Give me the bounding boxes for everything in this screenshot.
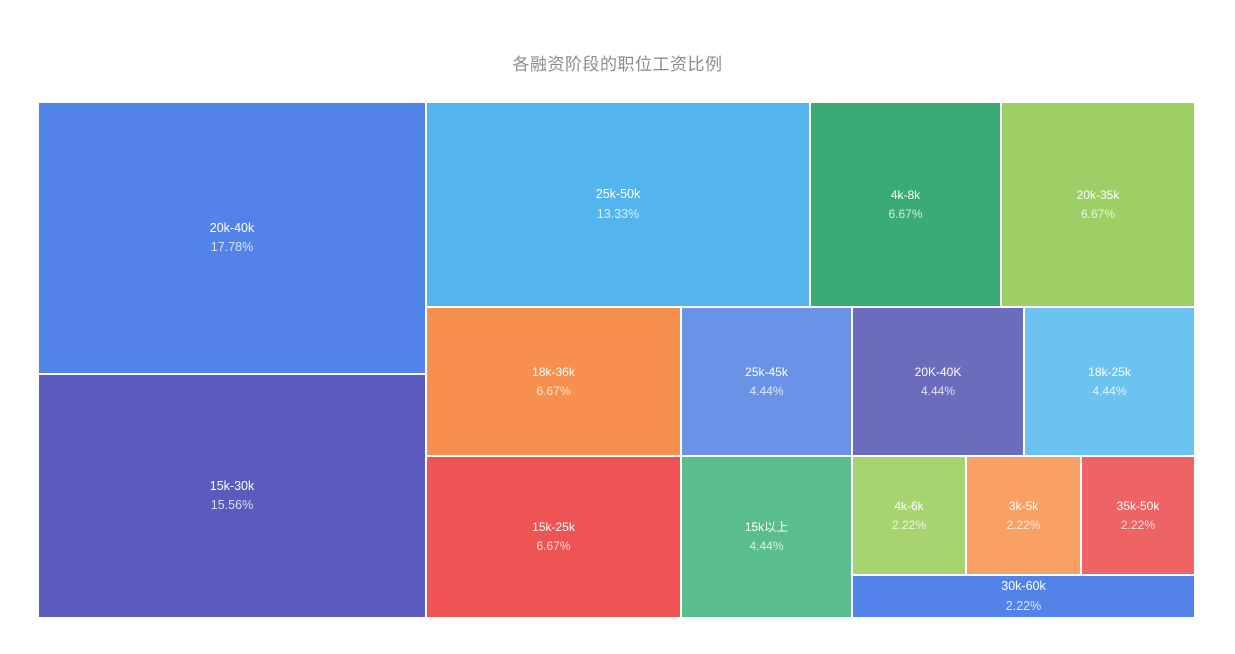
treemap-cell-label: 18k-36k [532,363,575,382]
treemap-cell-label: 3k-5k [1009,497,1038,516]
treemap-cell-value: 4.44% [921,382,955,401]
treemap-cell-value: 6.67% [1081,205,1115,224]
treemap-cell[interactable]: 18k-36k6.67% [426,307,681,456]
treemap-cell[interactable]: 15k-25k6.67% [426,456,681,618]
treemap-cell[interactable]: 35k-50k2.22% [1081,456,1195,575]
treemap-cell-value: 13.33% [597,205,639,224]
treemap-cell-value: 2.22% [1006,516,1040,535]
treemap-cell-value: 2.22% [892,516,926,535]
treemap-cell[interactable]: 25k-50k13.33% [426,102,810,307]
treemap-cell-value: 6.67% [536,382,570,401]
treemap-cell-value: 15.56% [211,496,253,515]
treemap-cell-value: 6.67% [888,205,922,224]
treemap-cell[interactable]: 18k-25k4.44% [1024,307,1195,456]
treemap-cell[interactable]: 4k-8k6.67% [810,102,1001,307]
treemap-cell-label: 15k-25k [532,518,575,537]
treemap-cell[interactable]: 20K-40K4.44% [852,307,1024,456]
treemap-cell[interactable]: 25k-45k4.44% [681,307,852,456]
treemap-cell-value: 2.22% [1006,597,1041,616]
treemap-cell-value: 4.44% [1092,382,1126,401]
treemap-cell-label: 25k-50k [596,185,640,204]
treemap-cell[interactable]: 4k-6k2.22% [852,456,966,575]
treemap-cell[interactable]: 30k-60k2.22% [852,575,1195,618]
treemap-cell[interactable]: 15k-30k15.56% [38,374,426,618]
treemap-cell-value: 4.44% [749,537,783,556]
treemap-cell[interactable]: 20k-35k6.67% [1001,102,1195,307]
treemap-cell-label: 30k-60k [1001,577,1045,596]
treemap-cell[interactable]: 15k以上4.44% [681,456,852,618]
treemap-cell-label: 20K-40K [915,363,962,382]
chart-title: 各融资阶段的职位工资比例 [0,50,1235,75]
treemap-cell-value: 4.44% [749,382,783,401]
treemap-cell-label: 15k以上 [745,518,788,537]
treemap-cell-label: 4k-8k [891,186,920,205]
treemap-cell-label: 25k-45k [745,363,788,382]
treemap-cell-value: 6.67% [536,537,570,556]
treemap-cell-label: 4k-6k [894,497,923,516]
treemap-cell-label: 20k-40k [210,219,254,238]
treemap-cell-value: 17.78% [211,238,253,257]
treemap-cell[interactable]: 20k-40k17.78% [38,102,426,374]
treemap-container: 20k-40k17.78%15k-30k15.56%25k-50k13.33%4… [38,102,1195,618]
treemap-cell[interactable]: 3k-5k2.22% [966,456,1081,575]
treemap-cell-label: 20k-35k [1077,186,1120,205]
treemap-chart: 各融资阶段的职位工资比例 20k-40k17.78%15k-30k15.56%2… [0,0,1235,654]
treemap-cell-label: 15k-30k [210,477,254,496]
treemap-cell-value: 2.22% [1121,516,1155,535]
treemap-cell-label: 18k-25k [1088,363,1131,382]
treemap-cell-label: 35k-50k [1117,497,1160,516]
